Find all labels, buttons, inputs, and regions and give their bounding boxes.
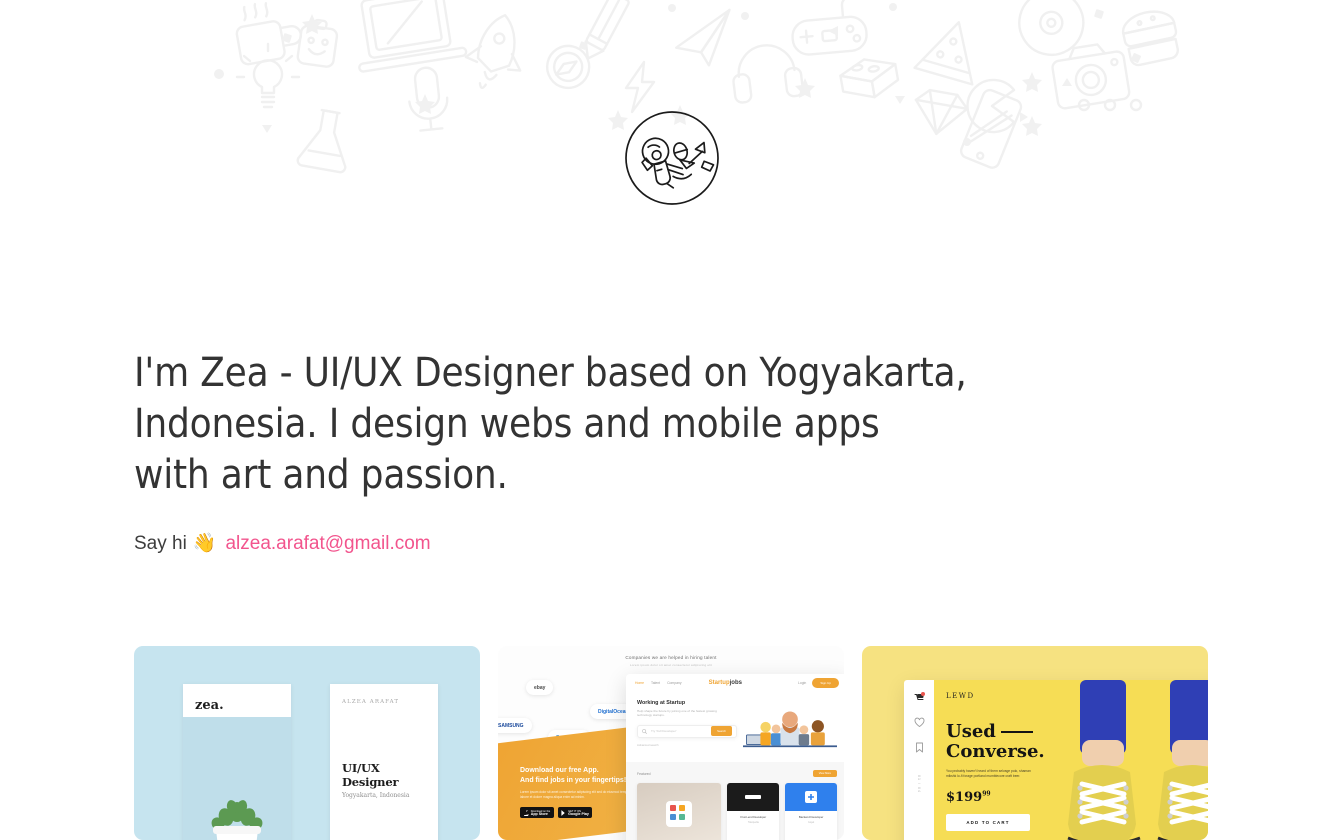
nav-company[interactable]: Company [667, 681, 682, 685]
shop-hero: LEWD Used Converse. You probably haven't… [934, 680, 1208, 840]
company-logo-ebay: ebay [526, 680, 553, 695]
search-icon [642, 729, 647, 734]
astronaut-logo[interactable] [624, 110, 720, 206]
brand-sheet-front: zea. [183, 684, 291, 840]
brand-subtitle: Yogyakarta, Indonesia [342, 792, 438, 799]
waving-hand-icon: 👋 [193, 531, 217, 557]
featured-section: Featured View More Work [626, 762, 844, 840]
heart-icon[interactable] [914, 717, 925, 728]
search-placeholder: Try 'Full Developer' [651, 729, 677, 733]
shop-title-used: Used [946, 722, 996, 742]
bookmark-icon[interactable] [914, 742, 925, 753]
nav-home[interactable]: Home [635, 681, 644, 685]
apple-icon [524, 810, 529, 816]
featured-header: Featured View More [637, 770, 837, 777]
headphones-icon [730, 41, 804, 103]
job-tile-2[interactable]: Backend Developer Gojek [785, 783, 837, 840]
plant-photo [183, 717, 291, 840]
job-tiles: Work at Companies Front-end Developer To… [637, 783, 837, 840]
company-logo-samsung: SAMSUNG [498, 718, 532, 733]
app-grid-icon [666, 801, 692, 827]
login-link[interactable]: Login [798, 681, 806, 685]
logo-circle-outline [626, 112, 718, 204]
paper-plane-icon [672, 10, 737, 70]
title-rule [1001, 731, 1033, 733]
intro-section: I'm Zea - UI/UX Designer based on Yogyak… [134, 348, 1144, 557]
succulent-plant-icon [202, 790, 272, 840]
converse-shoes-photo [1058, 680, 1208, 840]
pacman-icon [968, 80, 1014, 132]
job-search-bar[interactable]: Try 'Full Developer' Search [637, 725, 737, 738]
lego-brick-icon [838, 54, 900, 102]
job-tile-thumb-blue [785, 783, 837, 811]
google-play-badge[interactable]: GET IT ON Google Play [558, 807, 592, 818]
flask-icon [297, 107, 354, 172]
project-card-grid: zea. [134, 646, 1210, 840]
google-play-icon [561, 810, 566, 816]
microphone-icon [406, 66, 450, 132]
shop-description: You probably haven't heard of them selva… [946, 769, 1038, 779]
camera-icon [1050, 41, 1130, 110]
dot-icon [1131, 100, 1141, 110]
astronaut-figure [637, 124, 717, 194]
brand-part-b: jobs [730, 680, 742, 686]
smartphone-icon [959, 88, 1023, 170]
portfolio-landing-page: I'm Zea - UI/UX Designer based on Yogyak… [0, 0, 1344, 840]
project-card-shop[interactable]: 01 / 04 LEWD Used Converse. You probably… [862, 646, 1208, 840]
job-tile-2-caption: Backend Developer [785, 815, 837, 819]
lego-head-icon [297, 18, 339, 68]
featured-label: Featured [637, 772, 651, 776]
price-value: $199 [946, 790, 982, 805]
brand-title: UI/UX Designer [342, 761, 438, 789]
price-cents: 99 [982, 791, 990, 798]
job-tile-1[interactable]: Front-end Developer Tokopedia [727, 783, 779, 840]
view-more-button[interactable]: View More [813, 770, 837, 777]
hero-body: Help shape the future by joining one of … [637, 709, 725, 718]
cd-disc-icon [1013, 0, 1091, 62]
advanced-search-link[interactable]: Advanced search [637, 743, 737, 747]
gamepad-icon [789, 0, 867, 56]
project-card-branding[interactable]: zea. [134, 646, 480, 840]
team-illustration-icon [743, 700, 837, 756]
google-play-big: Google Play [568, 813, 589, 816]
compass-icon [543, 42, 593, 92]
browser-navbar: Home Talent Company Startupjobs Login Si… [626, 674, 844, 691]
page-title: I'm Zea - UI/UX Designer based on Yogyak… [134, 348, 1144, 501]
email-link[interactable]: alzea.arafat@gmail.com [225, 531, 430, 557]
startupjobs-logo: Startupjobs [709, 680, 742, 686]
cart-icon[interactable] [914, 692, 925, 703]
say-hi-label: Say hi [134, 531, 187, 557]
job-tile-featured[interactable]: Work at Companies [637, 783, 721, 840]
shop-browser-mock: 01 / 04 LEWD Used Converse. You probably… [904, 680, 1208, 840]
browser-nav-right: Login Sign Up [798, 678, 839, 688]
jobs-subheading-text: Lorem ipsum dolor sit amet consectetur a… [498, 663, 844, 667]
job-tile-2-sub: Gojek [785, 821, 837, 824]
jobs-heading-text: Companies we are helped in hiring talent [498, 655, 844, 660]
burger-icon [1120, 7, 1181, 67]
slide-counter: 01 / 04 [917, 775, 921, 793]
pizza-icon [915, 14, 988, 84]
nav-talent[interactable]: Talent [651, 681, 660, 685]
hero-copy: Working at Startup Help shape the future… [637, 700, 737, 756]
browser-hero: Working at Startup Help shape the future… [626, 691, 844, 762]
company-mark-icon [805, 791, 817, 803]
diamond-icon [911, 88, 970, 138]
job-tile-1-sub: Tokopedia [727, 821, 779, 824]
company-mark-icon [745, 793, 761, 801]
app-store-big: App Store [531, 813, 550, 816]
lightning-bolt-icon [626, 62, 654, 112]
dot-icon [1105, 100, 1115, 110]
shop-side-rail: 01 / 04 [904, 680, 934, 840]
zea-wordmark: zea. [195, 698, 291, 713]
jobs-heading: Companies we are helped in hiring talent… [498, 646, 844, 667]
search-button[interactable]: Search [711, 726, 732, 736]
project-card-jobs[interactable]: Companies we are helped in hiring talent… [498, 646, 844, 840]
pencil-icon [579, 0, 630, 63]
brand-sheet-back: ALZEA ARAFAT UI/UX Designer Yogyakarta, … [330, 684, 438, 840]
coffee-mug-icon [232, 0, 304, 65]
jobs-browser-mock: Home Talent Company Startupjobs Login Si… [626, 674, 844, 840]
app-store-badge[interactable]: Download on the App Store [520, 807, 554, 818]
add-to-cart-button[interactable]: ADD TO CART [946, 814, 1030, 831]
dot-icon [1079, 100, 1089, 110]
lightbulb-icon [237, 44, 299, 107]
hero-title: Working at Startup [637, 700, 737, 706]
job-tile-1-caption: Front-end Developer [727, 815, 779, 819]
brand-part-a: Startup [709, 680, 730, 686]
job-tile-thumb-dark [727, 783, 779, 811]
brand-kicker: ALZEA ARAFAT [342, 699, 438, 705]
contact-line: Say hi 👋 alzea.arafat@gmail.com [134, 531, 1144, 557]
laptop-icon [349, 0, 467, 72]
rocket-icon [460, 8, 533, 95]
signup-button[interactable]: Sign Up [812, 678, 839, 688]
